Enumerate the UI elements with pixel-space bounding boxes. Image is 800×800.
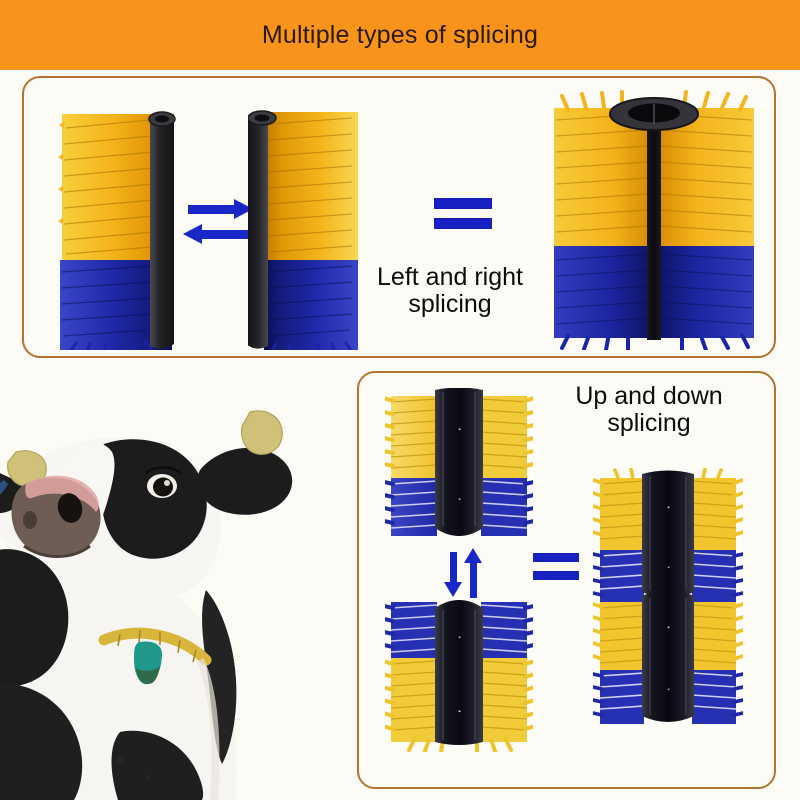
roller-half-left <box>58 100 180 350</box>
roller-half-right <box>248 100 358 350</box>
equals-sign-icon-2 <box>533 553 579 580</box>
brush-unit-combined <box>593 468 743 736</box>
brush-unit-top <box>385 388 533 544</box>
caption-up-and-down-splicing: Up and down splicing <box>524 383 774 437</box>
page-title: Multiple types of splicing <box>262 21 538 50</box>
caption-left-and-right-splicing: Left and right splicing <box>352 264 548 318</box>
equals-sign-icon <box>434 198 492 229</box>
cow-photo <box>0 360 352 800</box>
brush-unit-bottom <box>385 592 533 752</box>
roller-combined <box>542 88 766 350</box>
header-banner: Multiple types of splicing <box>0 0 800 70</box>
